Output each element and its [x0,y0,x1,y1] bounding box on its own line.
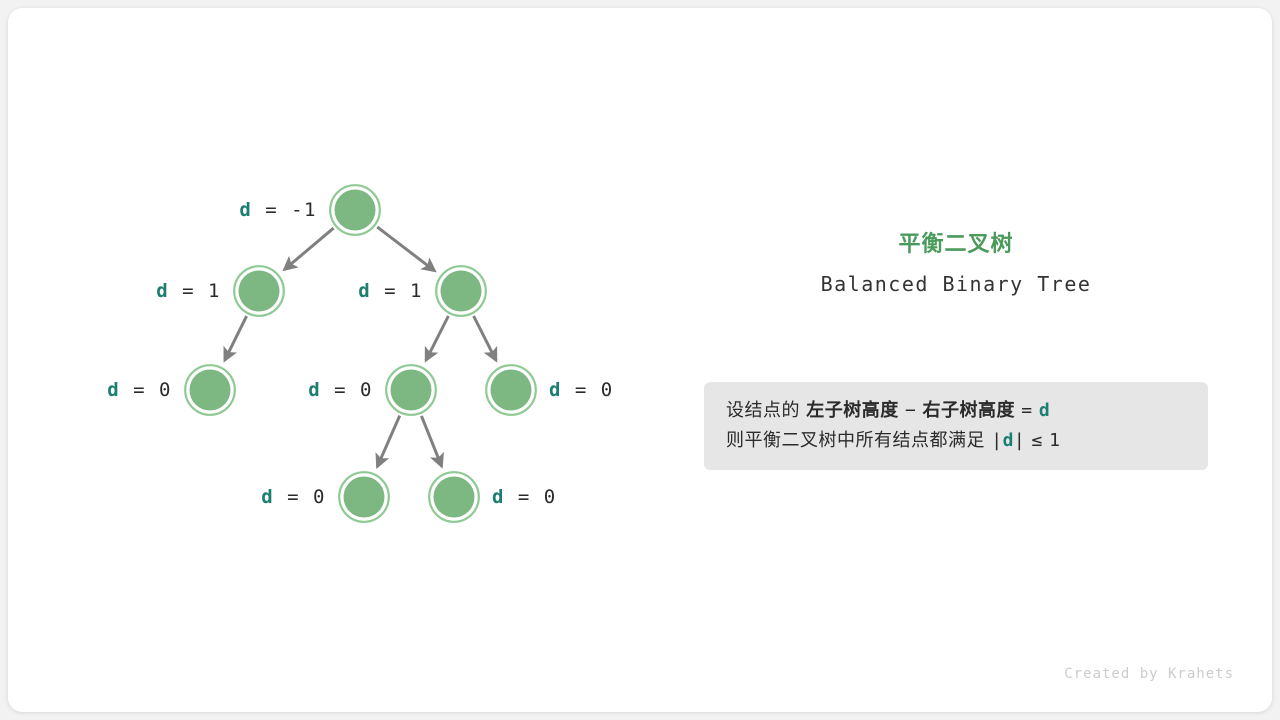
node-label-variable: d [107,379,120,401]
node-circle [239,271,280,312]
tree-edge [421,416,441,466]
info-panel: 平衡二叉树 Balanced Binary Tree [704,230,1208,298]
panel-title: 平衡二叉树 [704,230,1208,260]
condition-prefix: 则平衡二叉树中所有结点都满足 [726,430,985,451]
node-label-value: = -1 [252,199,317,221]
tree-node[interactable] [436,266,486,316]
definition-prefix: 设结点的 [726,400,800,421]
tree-edge [426,316,449,361]
tree-nodes [185,185,536,522]
node-label-value: = 1 [169,280,221,302]
node-balance-label: d = 0 [549,379,614,401]
node-circle [344,477,385,518]
abs-bar-left: | [991,430,1002,451]
tree-edge [284,228,333,270]
definition-term-right-height: 右子树高度 [923,400,1016,421]
node-label-value: = 1 [371,280,423,302]
node-balance-label: d = 1 [156,280,221,302]
diagram-card: d = -1d = 1d = 1d = 0d = 0d = 0d = 0d = … [8,8,1272,712]
node-label-value: = 0 [562,379,614,401]
variable-d: d [1003,430,1014,451]
node-balance-label: d = 0 [308,379,373,401]
tree-edge [377,416,399,467]
tree-node[interactable] [185,365,235,415]
variable-d: d [1039,400,1050,421]
node-label-variable: d [308,379,321,401]
node-circle [190,370,231,411]
definition-line-1: 设结点的 左子树高度 − 右子树高度 = d [726,396,1186,426]
tree-node[interactable] [234,266,284,316]
equals-sign: = [1021,400,1032,421]
tree-graphic [8,8,1272,712]
node-label-variable: d [549,379,562,401]
node-label-variable: d [358,280,371,302]
node-label-value: = 0 [505,486,557,508]
node-label-variable: d [156,280,169,302]
node-balance-label: d = -1 [239,199,317,221]
less-equal-sign: ≤ [1032,430,1043,451]
node-balance-label: d = 0 [261,486,326,508]
node-balance-label: d = 0 [107,379,172,401]
node-label-variable: d [261,486,274,508]
tree-edge [377,227,435,271]
tree-edges [225,227,496,467]
abs-bar-right: | [1014,430,1025,451]
node-circle [434,477,475,518]
node-label-variable: d [239,199,252,221]
definition-term-left-height: 左子树高度 [806,400,899,421]
panel-subtitle: Balanced Binary Tree [704,270,1208,298]
node-label-value: = 0 [274,486,326,508]
node-balance-label: d = 1 [358,280,423,302]
tree-edge [225,316,247,360]
credit-text: Created by Krahets [1064,666,1234,682]
tree-edge [474,316,497,361]
definition-box: 设结点的 左子树高度 − 右子树高度 = d 则平衡二叉树中所有结点都满足 |d… [704,382,1208,470]
node-circle [491,370,532,411]
definition-line-2: 则平衡二叉树中所有结点都满足 |d| ≤ 1 [726,426,1186,456]
node-label-value: = 0 [120,379,172,401]
condition-value: 1 [1049,430,1060,451]
node-circle [335,190,376,231]
node-circle [441,271,482,312]
node-label-variable: d [492,486,505,508]
minus-sign: − [905,400,916,421]
tree-node[interactable] [486,365,536,415]
node-circle [391,370,432,411]
node-balance-label: d = 0 [492,486,557,508]
node-label-value: = 0 [321,379,373,401]
tree-node[interactable] [386,365,436,415]
tree-node[interactable] [429,472,479,522]
tree-node[interactable] [330,185,380,235]
tree-node[interactable] [339,472,389,522]
